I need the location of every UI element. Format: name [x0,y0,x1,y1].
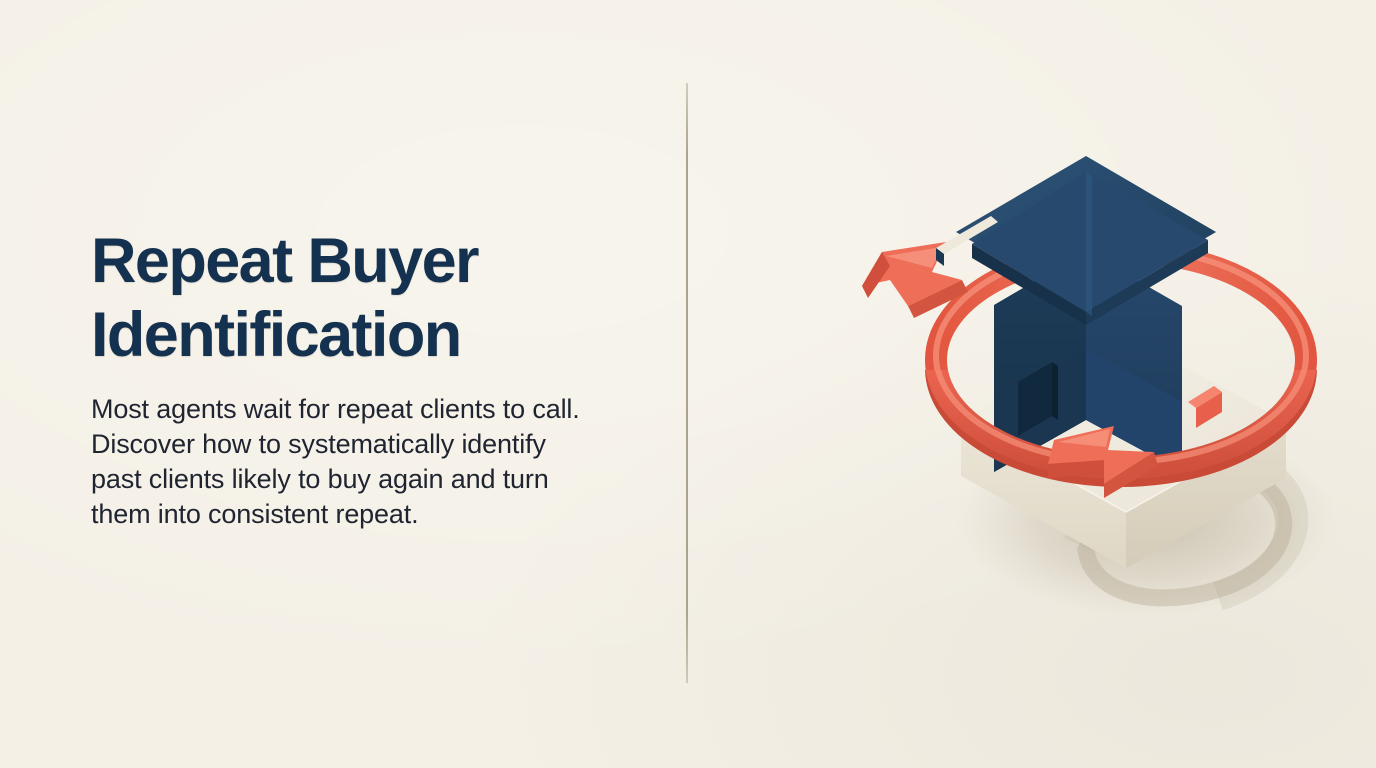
vertical-divider [686,83,688,683]
house-door-inner [1052,362,1058,420]
page-title-line-2: Identification [91,298,591,372]
page-title-line-1: Repeat Buyer [91,224,591,298]
text-panel: Repeat Buyer Identification Most agents … [91,224,591,532]
slide-canvas: Repeat Buyer Identification Most agents … [0,0,1376,768]
page-description: Most agents wait for repeat clients to c… [91,392,591,532]
house-roof-ridge-highlight [1086,172,1092,316]
illustration-house-cycle [786,120,1346,660]
page-title: Repeat Buyer Identification [91,224,591,372]
